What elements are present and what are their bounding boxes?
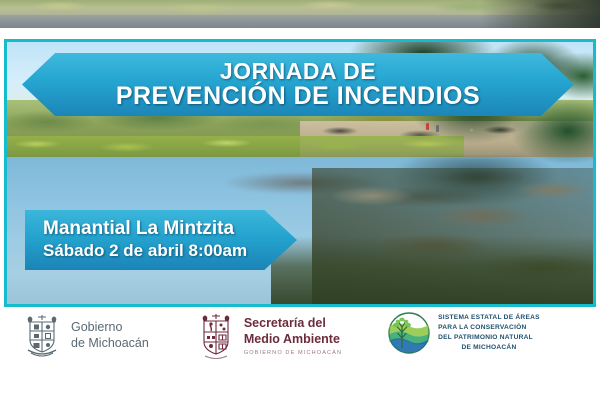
michoacan-coat-of-arms-icon <box>22 312 62 358</box>
secretaria-line-1: Secretaría del <box>244 316 342 331</box>
secretaria-subtitle: GOBIERNO DE MICHOACÁN <box>244 350 342 356</box>
sistema-line-3: DEL PATRIMONIO NATURAL <box>438 333 540 343</box>
secretaria-line-2: Medio Ambiente <box>244 332 342 347</box>
top-photo-strip <box>0 0 600 28</box>
top-strip-shadow <box>480 0 600 28</box>
photo-frame: JORNADA DE PREVENCIÓN DE INCENDIOS Manan… <box>4 39 596 307</box>
gobierno-label: Gobierno de Michoacán <box>71 319 149 351</box>
headline-line-1: JORNADA DE <box>220 59 376 84</box>
headline-line-2: PREVENCIÓN DE INCENDIOS <box>116 83 480 110</box>
secretaria-label: Secretaría del Medio Ambiente GOBIERNO D… <box>244 316 342 356</box>
logo-secretaria-medio-ambiente: Secretaría del Medio Ambiente GOBIERNO D… <box>197 312 342 360</box>
sistema-line-1: SISTEMA ESTATAL DE ÁREAS <box>438 313 540 323</box>
gobierno-line-2: de Michoacán <box>71 335 149 351</box>
nature-circle-tree-water-icon <box>388 312 430 354</box>
michoacan-shield-crest-icon <box>197 312 235 360</box>
poster: JORNADA DE PREVENCIÓN DE INCENDIOS Manan… <box>0 0 600 400</box>
sistema-estatal-label: SISTEMA ESTATAL DE ÁREAS PARA LA CONSERV… <box>438 313 540 353</box>
event-date-time: Sábado 2 de abril 8:00am <box>43 240 247 262</box>
gobierno-line-1: Gobierno <box>71 319 149 335</box>
headline-banner: JORNADA DE PREVENCIÓN DE INCENDIOS <box>22 53 574 116</box>
logo-gobierno-de-michoacan: Gobierno de Michoacán <box>22 312 149 358</box>
photo-person <box>426 123 429 130</box>
photo-person <box>436 125 439 132</box>
event-location: Manantial La Mintzita <box>43 218 234 241</box>
sistema-line-2: PARA LA CONSERVACIÓN <box>438 323 540 333</box>
photo-foreground-brush <box>271 236 593 304</box>
sistema-line-4: DE MICHOACÁN <box>438 343 540 353</box>
logo-row: Gobierno de Michoacán <box>0 312 600 382</box>
logo-sistema-estatal-areas: SISTEMA ESTATAL DE ÁREAS PARA LA CONSERV… <box>388 312 540 354</box>
event-details-banner: Manantial La Mintzita Sábado 2 de abril … <box>25 210 297 270</box>
